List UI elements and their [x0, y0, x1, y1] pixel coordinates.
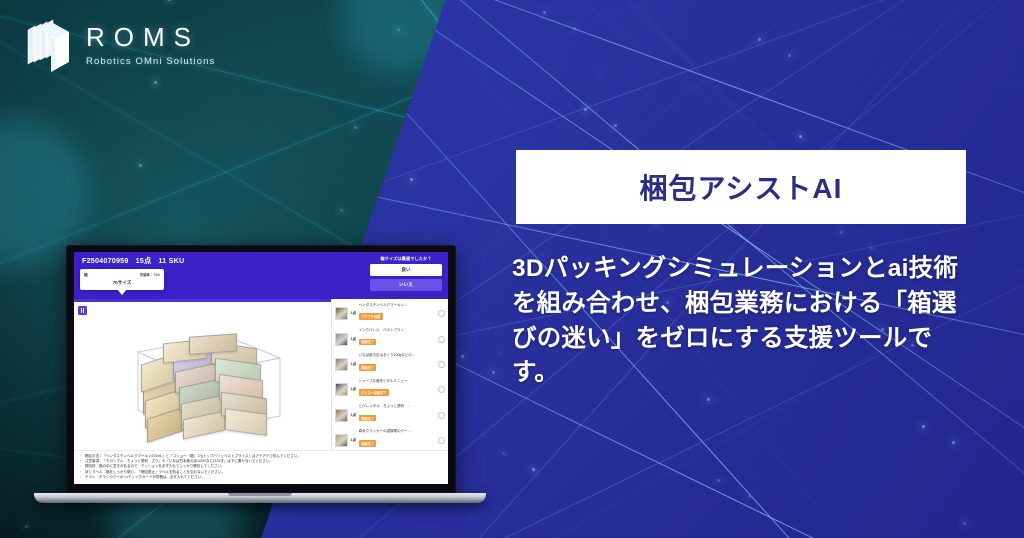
- tooltip-label: 箱: [84, 273, 88, 278]
- layered-cube-icon: [22, 16, 74, 74]
- list-item[interactable]: 1点いなば焼き缶はまぐり100gなどの…収納完了: [332, 352, 448, 377]
- item-status-badge: ブチブチ必要: [359, 313, 383, 320]
- feedback-question: 箱サイズは最適でしたか？: [370, 256, 442, 262]
- product-thumbnail: [335, 307, 348, 320]
- item-name: とびレンタル ちょっと便利 …: [359, 404, 436, 408]
- app-screen: F2504070959 15点 11 SKU 箱 充填率：74%: [74, 252, 448, 484]
- tooltip-box-size: 70サイズ: [84, 280, 160, 286]
- item-status-badge: 収納完了: [359, 440, 377, 447]
- item-status-badge: 収納完了: [359, 364, 377, 371]
- tooltip-fill-rate: 充填率：74%: [140, 272, 160, 277]
- item-status-badge: ロジスト収納完了: [359, 389, 390, 396]
- list-item[interactable]: 1点ヘンダスチンベルクマーキン…ブチブチ必要: [332, 301, 448, 326]
- item-status-badge: 収納完了: [359, 415, 377, 422]
- item-name: ヘンダスチンベルクマーキン…: [359, 303, 436, 307]
- box-tooltip: 箱 充填率：74% 70サイズ: [80, 269, 164, 290]
- brand-name: ROMS: [86, 24, 215, 50]
- laptop-base: [34, 493, 486, 503]
- tooltip-arrow: [117, 289, 127, 295]
- product-thumbnail: [335, 383, 348, 396]
- product-thumbnail: [335, 333, 348, 346]
- item-check-icon[interactable]: [438, 437, 445, 444]
- promotional-banner: ROMS Robotics OMni Solutions 梱包アシストAI 3D…: [0, 0, 1024, 538]
- item-quantity: 1点: [351, 438, 357, 443]
- item-status-badge: 収納完了: [359, 339, 377, 346]
- item-name: 森永クラッカーの濃厚業のクー…: [359, 429, 436, 433]
- item-quantity: 1点: [351, 362, 357, 367]
- hero-title: 梱包アシストAI: [640, 167, 843, 207]
- brand-logo: ROMS Robotics OMni Solutions: [22, 16, 215, 74]
- item-quantity: 1点: [351, 413, 357, 418]
- product-stack: [129, 329, 277, 429]
- feedback-yes-button[interactable]: 良い: [370, 264, 442, 276]
- sku-count: 11 SKU: [158, 256, 184, 265]
- feedback-no-button[interactable]: いいえ: [370, 279, 442, 291]
- product-thumbnail: [335, 409, 348, 422]
- list-item[interactable]: 1点森永クラッカーの濃厚業のクー…収納完了: [332, 428, 448, 450]
- app-header: F2504070959 15点 11 SKU 箱 充填率：74%: [74, 252, 448, 299]
- list-item[interactable]: 1点インクパトル ベストブライ…収納完了: [332, 326, 448, 351]
- item-check-icon[interactable]: [438, 386, 445, 393]
- bullet-icon: ・: [79, 475, 83, 480]
- note-text: チラシ：チラシやクーポン・ティングカードが同梱は、必ず入れてください。: [85, 475, 205, 480]
- packing-3d-viewer[interactable]: [74, 299, 332, 450]
- item-check-icon[interactable]: [438, 336, 445, 343]
- laptop-mockup: F2504070959 15点 11 SKU 箱 充填率：74%: [66, 245, 456, 503]
- item-quantity: 1点: [351, 311, 357, 316]
- list-item[interactable]: 1点シャープな発売とギルミニューロジスト収納完了: [332, 377, 448, 402]
- laptop-lid: F2504070959 15点 11 SKU 箱 充填率：74%: [66, 245, 456, 493]
- order-id: F2504070959: [82, 256, 129, 265]
- item-check-icon[interactable]: [438, 310, 445, 317]
- packing-notes: ・梱包方法：「ヘンダスチンベルクマーキン570mL」と「コショー（箱）17gトッ…: [74, 450, 448, 484]
- hero-description: 3Dパッキングシミュレーションとai技術を組み合わせ、梱包業務における「箱選びの…: [512, 252, 974, 391]
- item-count: 15点: [136, 256, 152, 266]
- packing-box-visualization: [110, 314, 296, 440]
- item-check-icon[interactable]: [438, 412, 445, 419]
- brand-tagline: Robotics OMni Solutions: [86, 57, 215, 67]
- packed-product: [189, 334, 237, 355]
- item-name: インクパトル ベストブライ…: [359, 328, 436, 332]
- item-name: シャープな発売とギルミニュー: [359, 379, 436, 383]
- note-line: ・チラシ：チラシやクーポン・ティングカードが同梱は、必ず入れてください。: [79, 475, 443, 480]
- item-quantity: 1点: [351, 387, 357, 392]
- pause-icon[interactable]: [78, 306, 87, 315]
- viewer-progress-bar: [74, 299, 331, 302]
- list-item[interactable]: 1点とびレンタル ちょっと便利 …収納完了: [332, 403, 448, 428]
- item-name: いなば焼き缶はまぐり100gなどの…: [359, 353, 436, 357]
- item-list[interactable]: 1点ヘンダスチンベルクマーキン…ブチブチ必要1点インクパトル ベストブライ…収納…: [332, 299, 448, 450]
- item-quantity: 1点: [351, 337, 357, 342]
- hero-title-box: 梱包アシストAI: [516, 150, 966, 224]
- order-summary: F2504070959 15点 11 SKU: [80, 256, 184, 266]
- product-thumbnail: [335, 434, 348, 447]
- product-thumbnail: [335, 358, 348, 371]
- app-body: 1点ヘンダスチンベルクマーキン…ブチブチ必要1点インクパトル ベストブライ…収納…: [74, 299, 448, 450]
- item-check-icon[interactable]: [438, 361, 445, 368]
